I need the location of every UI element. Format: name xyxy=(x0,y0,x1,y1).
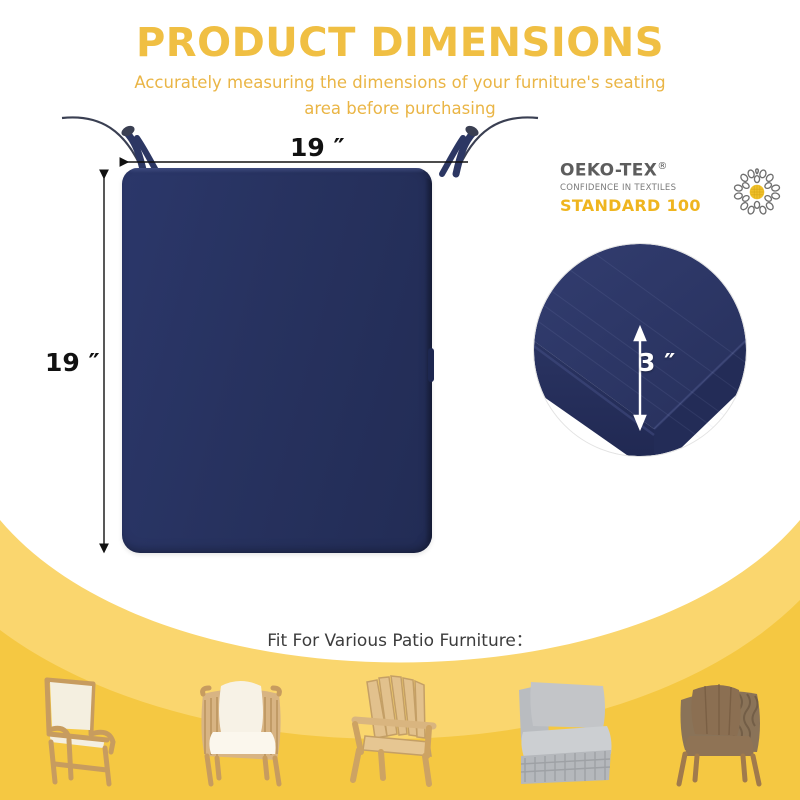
oeko-tex-flower-icon xyxy=(729,164,785,220)
footer-caption: Fit For Various Patio Furniture： xyxy=(0,626,800,651)
furniture-item-wooden-adirondack-chair xyxy=(325,660,475,790)
furniture-item-teak-sling-dining-chair xyxy=(5,660,155,790)
furniture-item-rope-woven-lounge-chair xyxy=(165,660,315,790)
chair-back-sling xyxy=(50,682,92,730)
page-title: PRODUCT DIMENSIONS xyxy=(0,20,800,66)
oeko-tex-wordmark: OEKO-TEX xyxy=(560,161,657,181)
chair-seat-cushion xyxy=(209,732,275,754)
chair-seat-slats xyxy=(363,736,431,756)
dimension-arrows xyxy=(60,140,480,570)
infographic-canvas: PRODUCT DIMENSIONS Accurately measuring … xyxy=(0,0,800,800)
compatible-furniture-row xyxy=(0,650,800,790)
armchair-back-cushion xyxy=(691,685,740,736)
height-dimension-label: 19 ″ xyxy=(45,348,100,377)
registered-trademark-icon: ® xyxy=(657,161,667,172)
furniture-item-brown-rope-armchair xyxy=(645,660,795,790)
furniture-item-gray-wicker-sectional-seat xyxy=(485,660,635,790)
chair-back-cushion xyxy=(219,681,263,732)
sectional-back-cushion xyxy=(530,682,605,728)
thickness-callout-label: 3 ″ xyxy=(638,348,675,377)
width-dimension-label: 19 ″ xyxy=(290,133,345,162)
armchair-seat-cushion xyxy=(685,736,753,756)
oeko-tex-badge: OEKO-TEX® CONFIDENCE IN TEXTILES STANDAR… xyxy=(560,158,785,228)
